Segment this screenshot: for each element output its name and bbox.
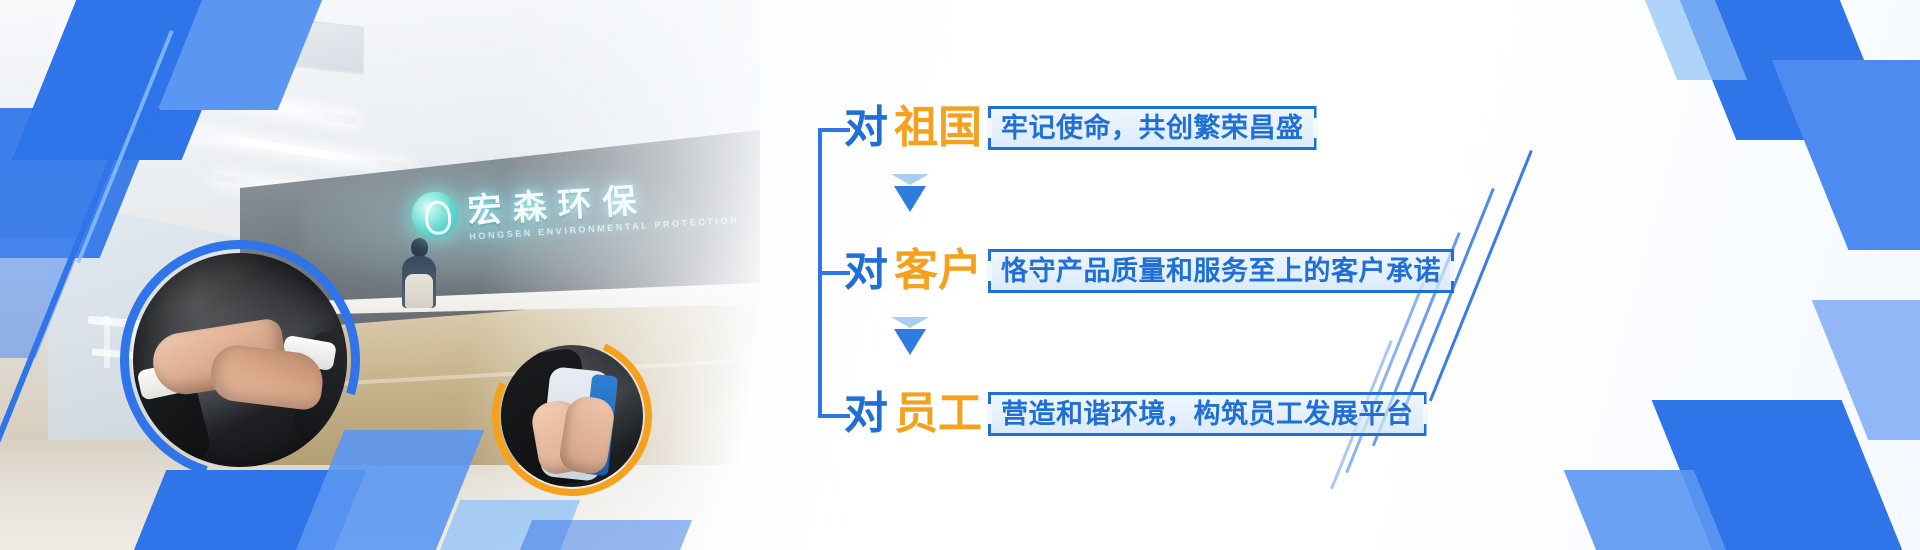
arrow-bottom-wedge [894,329,926,355]
receptionist-coat [405,274,433,308]
box-gap-left [987,261,992,281]
company-logo-icon [411,190,460,239]
company-values-banner: 宏森环保 HONGSEN ENVIRONMENTAL PROTECTION [0,0,1920,550]
values-bracket [818,128,846,418]
values-list: 对 祖国 牢记使命，共创繁荣昌盛 对 客户 恪守产品质量和服务至上的客户承诺 [818,88,1608,463]
value-statement-box-country: 牢记使命，共创繁荣昌盛 [988,106,1317,150]
handshake-photo [133,253,347,467]
decor-shape-bottom-middle [508,520,692,550]
box-gap-right [1423,404,1428,424]
value-prefix-employee: 对 [844,392,888,436]
value-row-customer: 对 客户 恪守产品质量和服务至上的客户承诺 [844,243,1454,299]
value-statement-customer: 恪守产品质量和服务至上的客户承诺 [1001,258,1441,285]
value-target-customer: 客户 [894,249,982,293]
value-statement-employee: 营造和谐环境，构筑员工发展平台 [1001,401,1414,428]
value-prefix-customer: 对 [844,249,888,293]
value-row-country: 对 祖国 牢记使命，共创繁荣昌盛 [844,100,1317,156]
value-prefix-country: 对 [844,106,888,150]
value-statement-frame-employee: 营造和谐环境，构筑员工发展平台 [988,392,1427,436]
arrow-top-wedge [891,317,929,328]
box-gap-right [1313,118,1318,138]
shelf-divider [104,316,110,368]
value-row-employee: 对 员工 营造和谐环境，构筑员工发展平台 [844,386,1427,442]
value-target-country: 祖国 [894,106,982,150]
value-statement-box-employee: 营造和谐环境，构筑员工发展平台 [988,392,1427,436]
value-target-employee: 员工 [894,392,982,436]
box-gap-left [987,118,992,138]
value-statement-country: 牢记使命，共创繁荣昌盛 [1001,115,1304,142]
value-statement-frame-country: 牢记使命，共创繁荣昌盛 [988,106,1317,150]
box-gap-left [987,404,992,424]
company-wall-sign: 宏森环保 HONGSEN ENVIRONMENTAL PROTECTION [410,165,645,261]
value-statement-frame-customer: 恪守产品质量和服务至上的客户承诺 [988,249,1454,293]
arrow-bottom-wedge [894,186,926,212]
value-statement-box-customer: 恪守产品质量和服务至上的客户承诺 [988,249,1454,293]
clasped-hands-photo [501,345,643,487]
arrow-top-wedge [891,174,929,185]
box-gap-right [1450,261,1455,281]
